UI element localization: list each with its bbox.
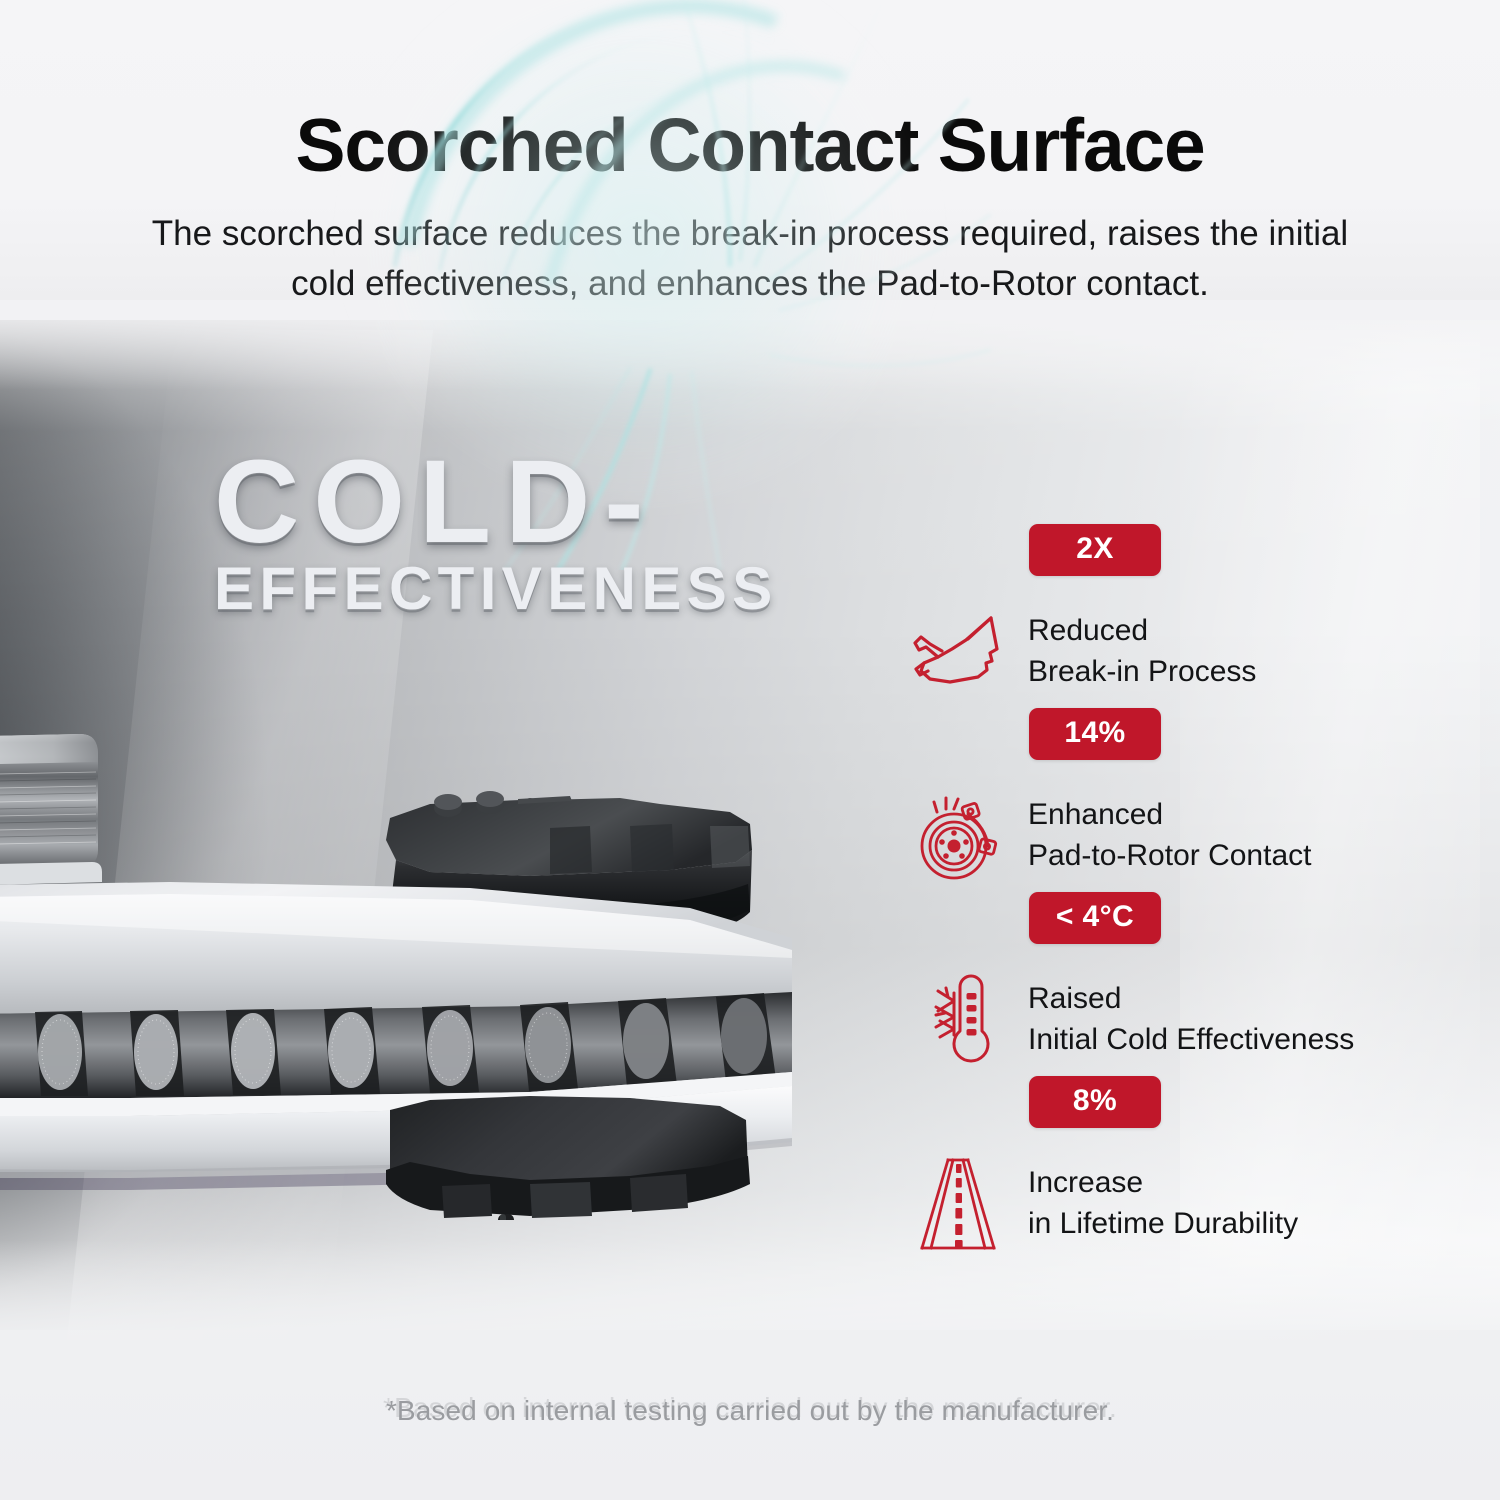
brake-rotor-svg [0,700,830,1220]
brake-rotor-caliper-icon [903,784,1013,888]
rotor-lower-hub [386,1096,750,1220]
rotor-hat [0,734,102,890]
wordmark-line-cold: COLD- [214,448,778,557]
status-badge: 8% [1029,1076,1161,1128]
wordmark-line-effectiveness: EFFECTIVENESS [214,559,778,619]
status-badge: 14% [1029,708,1161,760]
header: Scorched Contact Surface The scorched su… [0,0,1500,308]
feature-item-lifetime-durability: 8% [895,1076,1455,1260]
feature-text-line-2: Pad-to-Rotor Contact [1028,835,1311,876]
feature-text: Enhanced Pad-to-Rotor Contact [1028,794,1311,877]
background-fade-bottom [0,1240,1500,1500]
brake-rotor-product-image [0,700,830,1220]
infographic-canvas: Scorched Contact Surface The scorched su… [0,0,1500,1500]
feature-text-line-2: Initial Cold Effectiveness [1028,1019,1354,1060]
status-badge: < 4°C [1029,892,1161,944]
status-badge: 2X [1029,524,1161,576]
page-title: Scorched Contact Surface [0,108,1500,183]
badge-value: 8% [1073,1084,1117,1117]
badge-value: 14% [1064,716,1125,749]
subtitle-line-1: The scorched surface reduces the break-i… [0,209,1500,259]
footer-disclaimer: *Based on internal testing carried out b… [0,1395,1500,1427]
road-icon [903,1152,1013,1256]
feature-text-line-2: Break-in Process [1028,651,1256,692]
subtitle-line-2: cold effectiveness, and enhances the Pad… [0,259,1500,309]
feature-text: Increase in Lifetime Durability [1028,1162,1298,1245]
feature-text-line-1: Raised [1028,978,1354,1019]
badge-value: < 4°C [1056,900,1134,933]
feature-item-cold-effectiveness: < 4°C [895,892,1455,1076]
thermometer-snowflake-icon [903,968,1013,1072]
badge-value: 2X [1076,532,1114,565]
background-fade-top [0,300,1500,390]
feature-item-pad-to-rotor: 14% [895,708,1455,892]
feature-text: Reduced Break-in Process [1028,610,1256,693]
cold-effectiveness-wordmark: COLD- EFFECTIVENESS [214,448,778,619]
feature-text-line-2: in Lifetime Durability [1028,1203,1298,1244]
feature-text: Raised Initial Cold Effectiveness [1028,978,1354,1061]
feature-item-reduced-break-in: 2X Reduced Break-in Process [895,524,1455,708]
feature-text-line-1: Enhanced [1028,794,1311,835]
page-subtitle: The scorched surface reduces the break-i… [0,209,1500,308]
feature-list: 2X Reduced Break-in Process 14% [895,524,1455,1260]
brake-pad-icon [903,600,1013,704]
feature-text-line-1: Reduced [1028,610,1256,651]
feature-text-line-1: Increase [1028,1162,1298,1203]
